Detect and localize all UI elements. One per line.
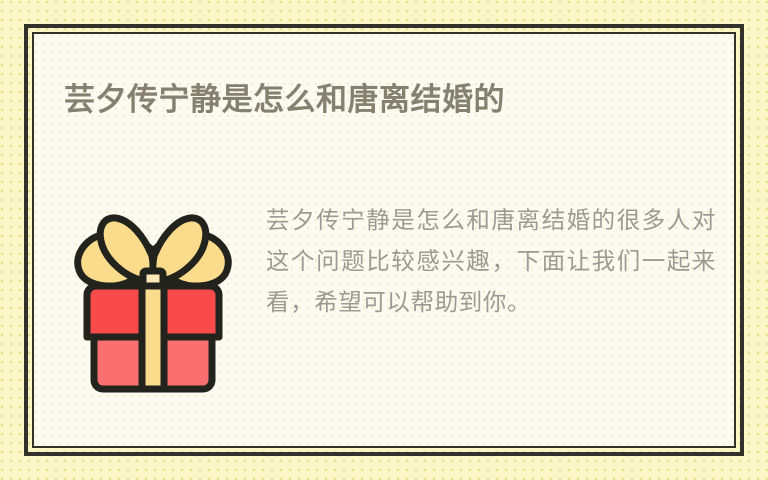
page-title: 芸夕传宁静是怎么和唐离结婚的: [64, 81, 704, 120]
content-row: 芸夕传宁静是怎么和唐离结婚的很多人对这个问题比较感兴趣，下面让我们一起来看，希望…: [62, 184, 716, 396]
poster-canvas: 芸夕传宁静是怎么和唐离结婚的: [0, 0, 768, 480]
gift-box-icon: [68, 186, 238, 396]
card-content: 芸夕传宁静是怎么和唐离结婚的: [34, 34, 734, 446]
body-paragraph: 芸夕传宁静是怎么和唐离结婚的很多人对这个问题比较感兴趣，下面让我们一起来看，希望…: [266, 200, 716, 323]
